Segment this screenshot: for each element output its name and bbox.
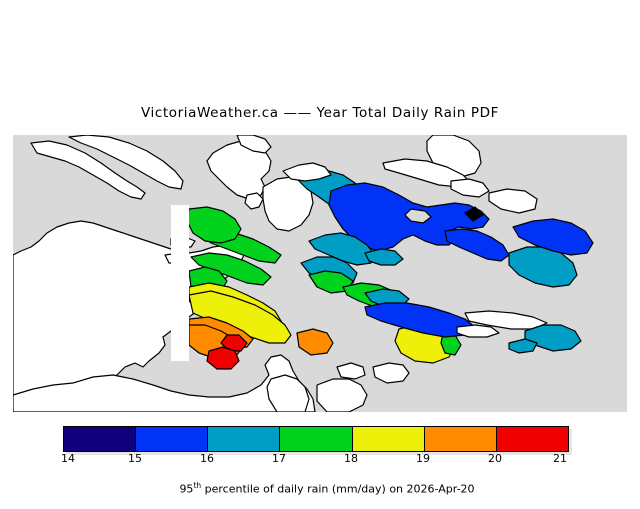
caption-superscript: th — [193, 481, 201, 490]
colorbar-tick-16: 16 — [200, 452, 214, 465]
colorbar-tick-18: 18 — [344, 452, 358, 465]
colorbar-caption: 95th percentile of daily rain (mm/day) o… — [0, 468, 640, 509]
caption-suffix: percentile of daily rain (mm/day) on 202… — [201, 483, 474, 496]
landmass-south-peninsula-b — [317, 379, 367, 412]
colorbar-segment-18-19 — [353, 427, 425, 451]
colorbar-tick-19: 19 — [416, 452, 430, 465]
colorbar: 1415161718192021 95th percentile of dail… — [0, 424, 640, 480]
region-east-island-blue-arm — [445, 229, 509, 261]
colorbar-tick-15: 15 — [128, 452, 142, 465]
colorbar-tick-17: 17 — [272, 452, 286, 465]
page-title: VictoriaWeather.ca —— Year Total Daily R… — [0, 105, 640, 121]
colorbar-gradient — [63, 426, 569, 452]
region-peninsula-west-edge — [171, 205, 189, 361]
caption-prefix: 95 — [179, 483, 193, 496]
colorbar-segment-17-18 — [280, 427, 352, 451]
colorbar-tick-20: 20 — [488, 452, 502, 465]
region-far-east-teal-sliver — [509, 339, 537, 353]
colorbar-tick-labels: 1415161718192021 — [0, 452, 640, 466]
landmass-south-islet-c — [373, 363, 409, 383]
region-saanich-green — [187, 207, 241, 243]
colorbar-segment-14-15 — [64, 427, 136, 451]
region-far-east-white-tip2 — [457, 325, 499, 337]
landmass-south-islet-d — [337, 363, 365, 379]
colorbar-segment-19-20 — [425, 427, 497, 451]
colorbar-tick-14: 14 — [61, 452, 75, 465]
colorbar-tick-21: 21 — [553, 452, 567, 465]
precipitation-map — [13, 135, 627, 412]
map-panel — [13, 135, 627, 412]
region-small-island-red — [207, 347, 239, 369]
colorbar-segment-20-21 — [497, 427, 568, 451]
colorbar-segment-16-17 — [208, 427, 280, 451]
landmass-northeast-islet-b — [451, 179, 489, 197]
landmass-east-white-patch — [489, 189, 537, 213]
colorbar-segment-15-16 — [136, 427, 208, 451]
region-small-island-orange — [297, 329, 333, 355]
landmass-south-peninsula-a — [267, 375, 309, 412]
